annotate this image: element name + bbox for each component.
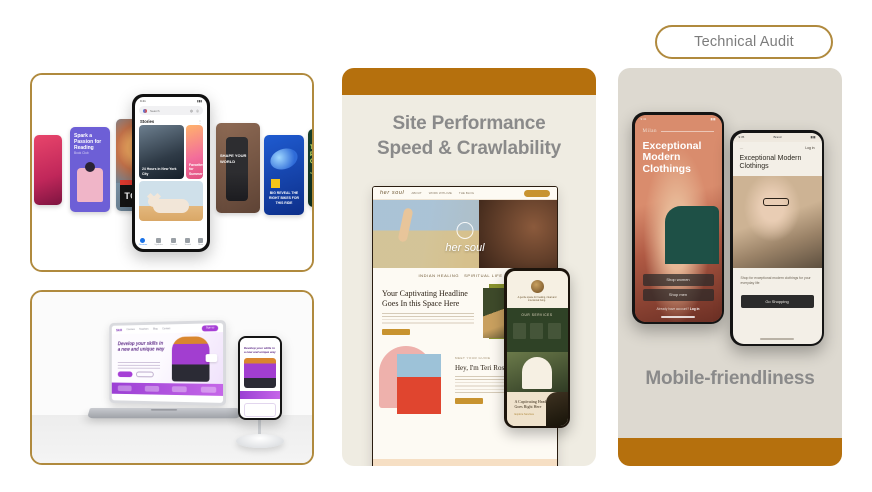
stories-row: 24 Hours in New York City Favorites for … xyxy=(135,125,207,179)
status-icons: ▮▮▮ xyxy=(811,135,816,139)
phone-mockup-dark: 9:41 ▮▮▮ Milan Exceptional Modern Clothi… xyxy=(632,112,724,324)
brand-badge xyxy=(271,179,280,188)
login-link[interactable]: Log in xyxy=(690,307,700,311)
mobile-section-title: OUR SERVICES xyxy=(511,313,564,317)
nav-label: Saved xyxy=(185,244,191,246)
story-card-5-title: BIG REVEAL THE RIGHT BIKES FOR THIS RIDE xyxy=(267,191,301,205)
phone-site-headline: Develop your skills in a new and unique … xyxy=(240,344,280,355)
home-indicator xyxy=(760,338,794,340)
status-time: 9:41 xyxy=(140,99,146,103)
mockup-navbar: her soul ABOUT WORK WITH ME THE BLOG xyxy=(373,187,557,200)
nav-link-teachers[interactable]: Teachers xyxy=(139,328,148,331)
status-time: 9:35 xyxy=(739,135,745,139)
mobile-cta-section: A Captivating Heading Goes Right Here Ex… xyxy=(507,392,568,426)
phone-mockup: Develop your skills in a new and unique … xyxy=(238,336,282,420)
stories-header: Stories ⋮ xyxy=(135,117,207,125)
updates-icon xyxy=(156,238,161,243)
story-card-1 xyxy=(34,135,62,205)
hero-model-photo xyxy=(172,336,210,382)
phone-site-hero-image xyxy=(244,358,276,388)
story-tile-caption: 24 Hours in New York City xyxy=(142,167,181,176)
nav-label: More xyxy=(198,244,203,246)
discover-icon xyxy=(140,238,145,243)
mobile-intro-text: A gentle space for healing, ritual and i… xyxy=(507,296,568,303)
description-text: Shop for exceptional modern clothings fo… xyxy=(741,276,814,287)
phone-screen: 9:35 Brand ▮▮▮ ⋯ Log in Exceptional Mode… xyxy=(733,133,822,344)
search-icon xyxy=(171,238,176,243)
login-row: Already have account? Log in xyxy=(635,307,722,311)
mockup-hero: her soul xyxy=(373,200,557,268)
service-column xyxy=(548,323,561,339)
mockup-cta-button[interactable] xyxy=(524,190,550,197)
strip-item xyxy=(172,386,187,392)
lens-icon[interactable]: ◎ xyxy=(196,109,199,113)
brand-row: Milan xyxy=(643,129,714,134)
laptop-base xyxy=(87,408,241,418)
panel-artwork: 9:41 ▮▮▮ Milan Exceptional Modern Clothi… xyxy=(618,68,842,368)
nav-item-saved[interactable]: Saved xyxy=(185,238,191,246)
story-card-6: THE PLANET QUIZ Nature Trivia xyxy=(308,129,314,207)
story-card-2-sub: Book Club xyxy=(74,151,89,155)
hero-primary-button[interactable] xyxy=(118,371,133,377)
saved-icon xyxy=(185,238,190,243)
description-block: Shop for exceptional modern clothings fo… xyxy=(733,268,822,287)
story-card-2: Spark a Passion for Reading Book Club xyxy=(70,127,110,212)
glasses-icon xyxy=(763,198,789,206)
status-icons: ▮▮▮ xyxy=(711,117,716,121)
about-headline: Hey, I'm Teri Rose xyxy=(455,364,507,372)
panel-top-accent-bar xyxy=(342,68,596,95)
mobile-mockup: A gentle space for healing, ritual and i… xyxy=(504,268,570,428)
home-indicator xyxy=(661,316,695,318)
bottom-nav[interactable]: Discover Updates Search Saved More xyxy=(135,238,207,246)
site-feature-strip xyxy=(112,383,223,396)
google-icon xyxy=(143,109,147,113)
technical-audit-badge[interactable]: Technical Audit xyxy=(655,25,833,59)
story-tile-nyc[interactable]: 24 Hours in New York City xyxy=(139,125,184,179)
story-card-6-sub: Nature Trivia xyxy=(310,171,314,175)
about-button[interactable] xyxy=(455,398,483,404)
nav-label: Updates xyxy=(155,244,163,246)
nav-item-more[interactable]: More xyxy=(198,238,203,246)
mobile-seal-icon xyxy=(531,280,544,293)
nav-label: Search xyxy=(170,244,177,246)
strip-item xyxy=(201,387,216,393)
mobile-image-section xyxy=(507,352,568,392)
nav-item-updates[interactable]: Updates xyxy=(155,238,163,246)
laptop-screen: Skill Courses Teachers Blog Contact Sign… xyxy=(112,323,223,403)
mobile-services-section: OUR SERVICES xyxy=(507,308,568,352)
product-photo xyxy=(733,176,822,268)
phone-mockup-light: 9:35 Brand ▮▮▮ ⋯ Log in Exceptional Mode… xyxy=(730,130,824,346)
mic-icon[interactable]: ◍ xyxy=(190,109,193,113)
nav-link-blog[interactable]: Blog xyxy=(153,328,158,331)
status-bar: 9:35 Brand ▮▮▮ xyxy=(733,133,822,142)
nav-item-search[interactable]: Search xyxy=(170,238,177,246)
status-carrier: Brand xyxy=(773,135,781,139)
nav-link-courses[interactable]: Courses xyxy=(126,328,134,331)
mobile-arch-badge xyxy=(522,357,552,389)
phone-screen: 9:41 ▮▮▮ Search ◍ ◎ Stories ⋮ xyxy=(135,97,207,249)
site-logo: Skill xyxy=(116,328,122,332)
nav-item-discover[interactable]: Discover xyxy=(139,238,148,246)
hero-badge xyxy=(206,354,218,362)
card-discover-stories[interactable]: Spark a Passion for Reading Book Club TO… xyxy=(30,73,314,272)
shop-women-button[interactable]: Shop women xyxy=(643,274,714,286)
signup-button[interactable]: Sign up xyxy=(202,325,218,331)
more-icon xyxy=(198,238,203,243)
laptop-mockup: Skill Courses Teachers Blog Contact Sign… xyxy=(90,320,226,424)
discover-illustration: Spark a Passion for Reading Book Club TO… xyxy=(32,75,312,270)
shop-men-button[interactable]: Shop men xyxy=(643,289,714,301)
mockup-headline: Your Captivating Headline Goes In this S… xyxy=(382,289,478,308)
mockup-logo: her soul xyxy=(380,190,404,196)
devices-illustration: Skill Courses Teachers Blog Contact Sign… xyxy=(32,292,312,463)
service-column xyxy=(530,323,543,339)
nav-link-contact[interactable]: Contact xyxy=(162,327,170,330)
reading-illustration xyxy=(77,168,103,202)
login-link[interactable]: Log in xyxy=(805,146,814,150)
hero-seal-icon xyxy=(457,222,474,239)
laptop-lid: Skill Courses Teachers Blog Contact Sign… xyxy=(109,320,226,406)
login-prompt: Already have account? xyxy=(657,307,689,311)
hero-secondary-button[interactable] xyxy=(136,372,154,378)
hero-paragraph xyxy=(118,362,160,369)
strip-item xyxy=(118,385,132,391)
orb-graphic xyxy=(267,145,300,173)
go-shopping-button[interactable]: Go Shopping xyxy=(741,295,814,308)
panel-title-line2: Speed & Crawlability xyxy=(352,136,586,161)
hero-photo-accent xyxy=(665,206,719,264)
phone-site-strip xyxy=(240,391,280,399)
story-card-6-title: THE PLANET QUIZ xyxy=(310,145,314,166)
about-portrait xyxy=(397,354,441,414)
service-column xyxy=(513,323,526,339)
page-root: Technical Audit Spark a Passion for Read… xyxy=(0,0,872,492)
technical-audit-label: Technical Audit xyxy=(694,34,794,50)
figure-image xyxy=(226,137,248,201)
mobile-corner-photo xyxy=(546,392,568,426)
hero-brand-name: her soul xyxy=(445,242,484,254)
hero-model xyxy=(479,200,557,268)
panel-site-performance[interactable]: Site Performance Speed & Crawlability he… xyxy=(342,68,596,466)
status-bar: 9:41 ▮▮▮ xyxy=(635,115,722,123)
story-card-4: SHAPE YOUR WORLD xyxy=(216,123,260,213)
panel-mobile-friendliness[interactable]: 9:41 ▮▮▮ Milan Exceptional Modern Clothi… xyxy=(618,68,842,466)
panel-title-line1: Site Performance xyxy=(352,111,586,136)
search-bar[interactable]: Search ◍ ◎ xyxy=(139,106,203,115)
panel-artwork: her soul ABOUT WORK WITH ME THE BLOG her… xyxy=(342,186,596,466)
mockup-nav-link[interactable]: THE BLOG xyxy=(459,191,474,195)
mockup-footer xyxy=(373,459,557,466)
strip-item xyxy=(145,386,159,392)
mobile-screen: A gentle space for healing, ritual and i… xyxy=(507,271,568,426)
status-icons: ▮▮▮ xyxy=(197,99,202,103)
nav-label: Discover xyxy=(139,244,148,246)
status-bar: 9:41 ▮▮▮ xyxy=(135,97,207,104)
top-bar: ⋯ Log in xyxy=(733,142,822,153)
panel-title: Mobile-friendliness xyxy=(618,368,842,390)
brand-name: Milan xyxy=(643,129,657,134)
mockup-paragraph xyxy=(382,313,474,324)
cat-photo-card[interactable] xyxy=(139,181,203,221)
search-placeholder: Search xyxy=(150,109,187,113)
hero-headline: Develop your skills in a new and unique … xyxy=(118,341,166,353)
panel-bottom-accent-bar xyxy=(618,438,842,466)
page-headline: Exceptional Modern Clothings xyxy=(733,153,822,177)
more-icon[interactable]: ⋮ xyxy=(198,119,202,124)
card-responsive-devices[interactable]: Skill Courses Teachers Blog Contact Sign… xyxy=(30,290,314,465)
status-time: 9:41 xyxy=(641,117,647,121)
phone-screen: Develop your skills in a new and unique … xyxy=(240,338,280,418)
panel-title: Site Performance Speed & Crawlability xyxy=(342,95,596,161)
story-tile-summer[interactable]: Favorites for Summer xyxy=(186,125,203,179)
stories-title: Stories xyxy=(140,119,154,124)
story-tile-caption: Favorites for Summer xyxy=(189,163,200,176)
phone-site-card xyxy=(244,403,276,417)
menu-icon[interactable]: ⋯ xyxy=(740,146,746,151)
cat-body-shape xyxy=(153,199,189,213)
brand-rule xyxy=(661,131,714,132)
phone-stand-base xyxy=(236,434,284,448)
story-card-2-title: Spark a Passion for Reading xyxy=(74,133,106,151)
story-card-4-title: SHAPE YOUR WORLD xyxy=(220,153,260,165)
site-hero: Develop your skills in a new and unique … xyxy=(112,332,223,384)
mockup-button[interactable] xyxy=(382,329,410,335)
ticker-item-1: INDIAN HEALING xyxy=(418,273,459,278)
mockup-nav-link[interactable]: ABOUT xyxy=(411,191,421,195)
phone-screen: 9:41 ▮▮▮ Milan Exceptional Modern Clothi… xyxy=(635,115,722,322)
hero-headline: Exceptional Modern Clothings xyxy=(643,141,704,176)
discover-phone-mockup: 9:41 ▮▮▮ Search ◍ ◎ Stories ⋮ xyxy=(132,94,210,252)
about-kicker: MEET YOUR GUIDE xyxy=(455,356,491,360)
mockup-nav-link[interactable]: WORK WITH ME xyxy=(429,191,452,195)
story-card-5: BIG REVEAL THE RIGHT BIKES FOR THIS RIDE xyxy=(264,135,304,215)
mobile-service-columns xyxy=(511,323,564,339)
